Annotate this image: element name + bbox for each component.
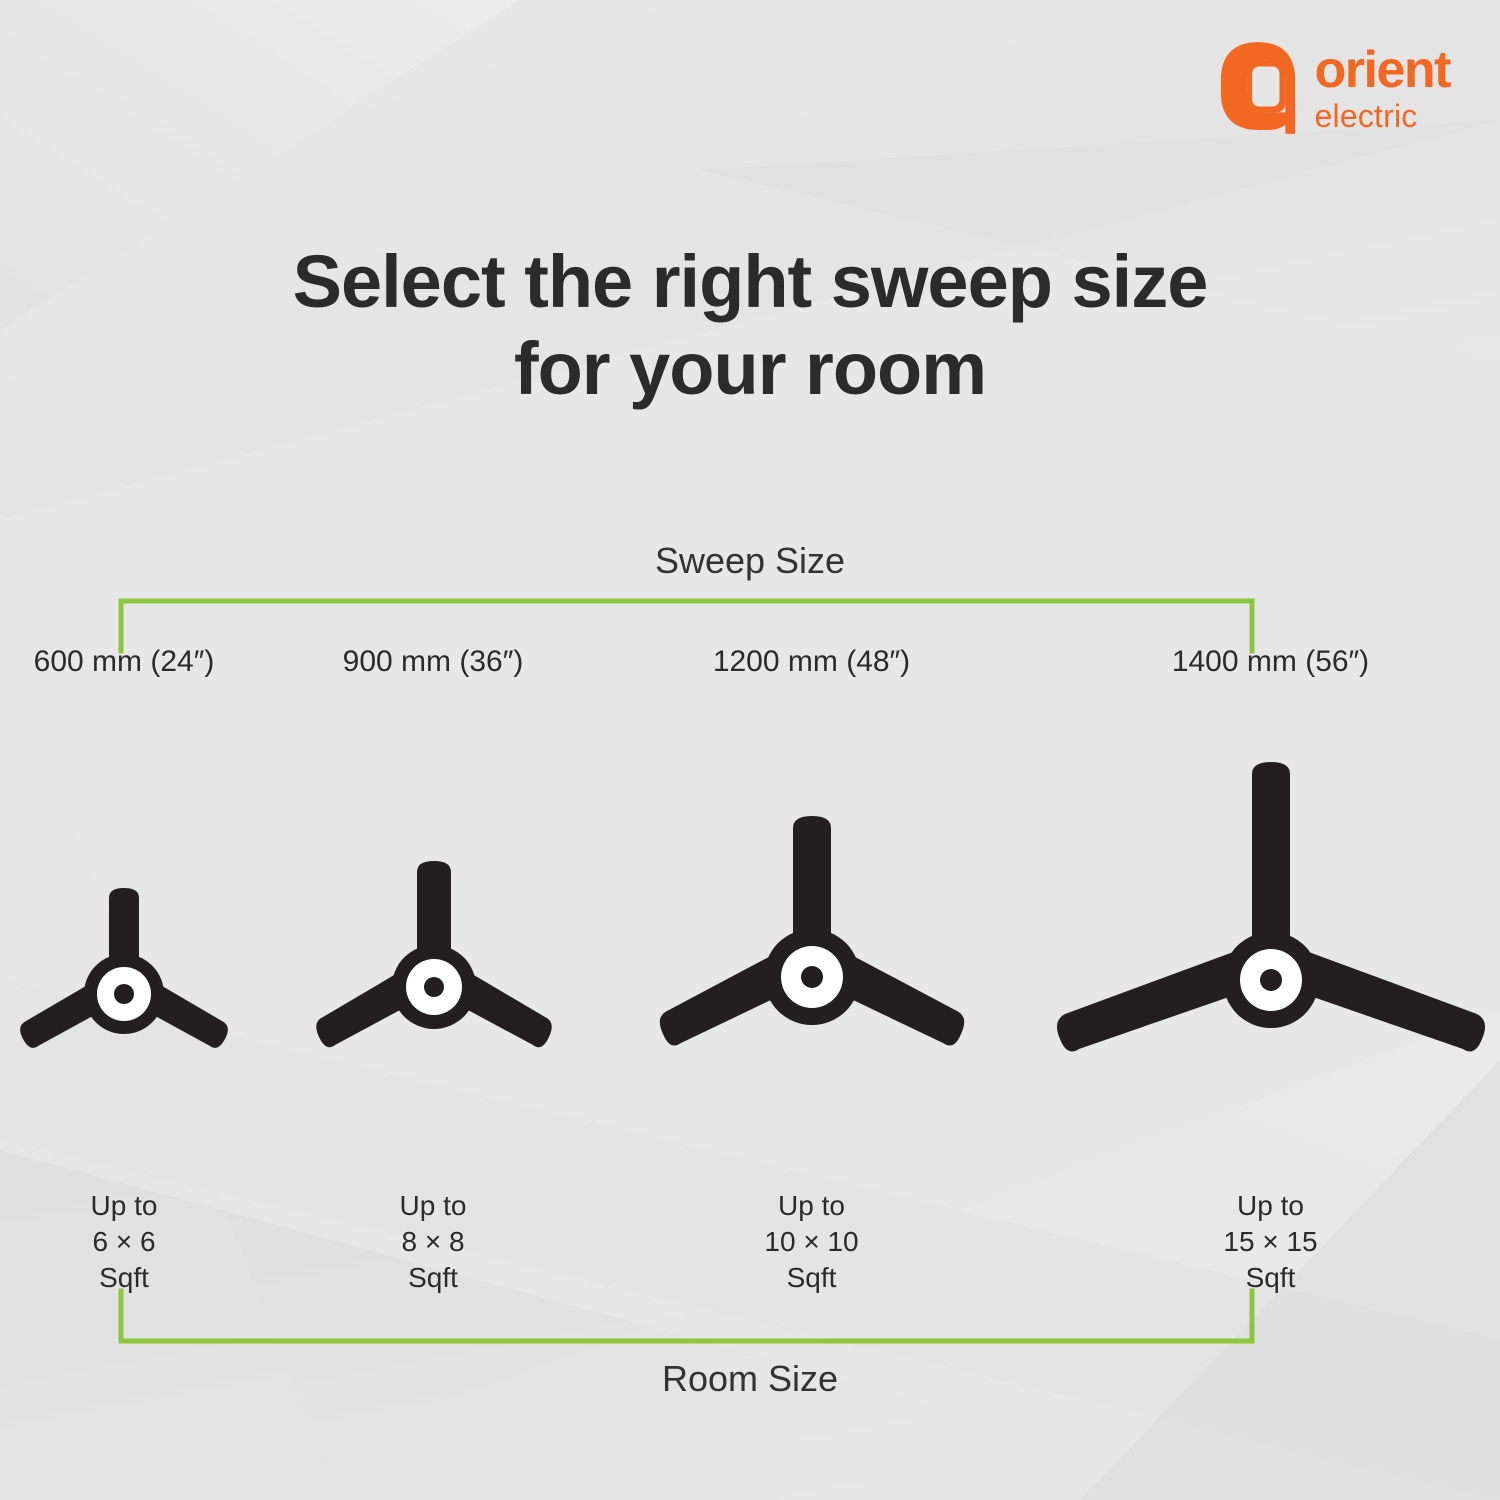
room-label-line-3: Sqft [0, 1260, 248, 1296]
room-label-line-2: 15 × 15 [1128, 1224, 1413, 1260]
room-label-1400mm: Up to 15 × 15 Sqft [1128, 1188, 1413, 1295]
room-label-line-3: Sqft [1128, 1260, 1413, 1296]
sweep-label-1400mm: 1400 mm (56″) [1128, 645, 1413, 679]
room-label-line-1: Up to [0, 1188, 248, 1224]
room-label-line-2: 8 × 8 [309, 1224, 557, 1260]
sweep-label-1200mm: 1200 mm (48″) [669, 645, 954, 679]
room-label-line-2: 6 × 6 [0, 1224, 248, 1260]
ceiling-fan-icon-1400mm [1056, 758, 1486, 1070]
ceiling-fan-icon-600mm [14, 872, 234, 1068]
sweep-label-900mm: 900 mm (36″) [309, 645, 557, 679]
room-label-line-2: 10 × 10 [669, 1224, 954, 1260]
room-label-line-3: Sqft [309, 1260, 557, 1296]
room-label-line-1: Up to [309, 1188, 557, 1224]
room-label-line-3: Sqft [669, 1260, 954, 1296]
fan-comparison-row: 600 mm (24″) Up to 6 × 6 Sqft [0, 0, 1500, 1500]
ceiling-fan-icon-1200mm [657, 800, 967, 1068]
ceiling-fan-icon-900mm [313, 845, 555, 1067]
room-label-line-1: Up to [669, 1188, 954, 1224]
room-size-caption: Room Size [0, 1358, 1500, 1400]
room-label-600mm: Up to 6 × 6 Sqft [0, 1188, 248, 1295]
room-label-1200mm: Up to 10 × 10 Sqft [669, 1188, 954, 1295]
room-label-900mm: Up to 8 × 8 Sqft [309, 1188, 557, 1295]
room-label-line-1: Up to [1128, 1188, 1413, 1224]
sweep-label-600mm: 600 mm (24″) [0, 645, 248, 679]
